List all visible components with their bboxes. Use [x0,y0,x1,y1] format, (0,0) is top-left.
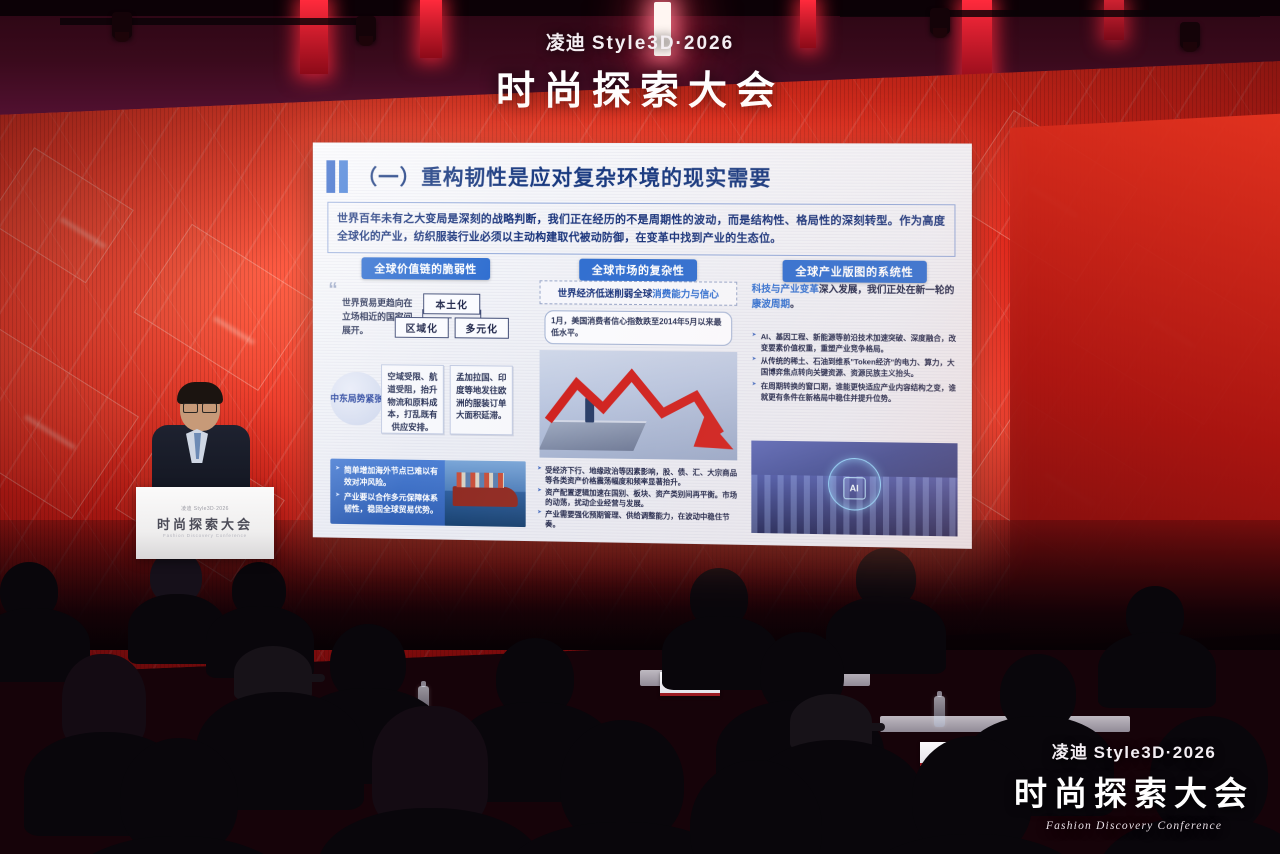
highlight-accent: 消费能力与信心 [652,289,719,301]
branding-top-line1: 凌迪Style3D·2026 [0,28,1280,55]
conference-photo-stage: 凌迪Style3D·2026 时尚探索大会 （一）重构韧性是应对复杂环境的现实需… [0,0,1280,854]
watermark-line1: 凌迪Style3D·2026 [1014,738,1254,763]
watermark-title: 时尚探索大会 [1014,767,1254,815]
audience-shoulders [62,836,294,854]
list-item: 在周期转换的窗口期，谁能更快适应产业内容结构之变，谁就更有条件在新格局中稳住并提… [752,381,958,405]
watermark-cn: 凌迪 [1052,743,1089,762]
red-down-arrow-icon [539,350,737,460]
ai-city-image: AI [752,441,958,537]
declining-arrow-chart-image [539,350,737,460]
speaker-podium-group: 凌迪 Style3D·2026 时尚探索大会 Fashion Discovery… [128,383,283,558]
column-market-complexity: 全球市场的复杂性 世界经济低迷削弱全球消费能力与信心 1月，美国消费者信心指数跌… [535,258,741,536]
list-item: 受经济下行、地缘政治等因素影响，股、债、汇、大宗商品等各类资产价格震荡幅度和频率… [537,465,739,489]
slide-three-columns: 全球价值链的脆弱性 “ 世界贸易更趋向在立场相近的国家间展开。 本土化 区域化 … [324,257,959,541]
note-logistics-cost: 空域受限、航道受阻，抬升物流和原料成本，打乱既有供应安排。 [381,364,444,434]
tag-connector-left [422,309,451,318]
speaker-glasses-icon [183,403,217,411]
highlight-plain: 世界经济低迷削弱全球 [558,288,653,300]
highlight-accent: 科技与产业变革 [752,284,819,296]
branding-top-cn: 凌迪 [546,33,586,54]
list-item: 从传统的稀土、石油到维系"Token经济"的电力、算力，大国博弈焦点转向关键资源… [752,357,958,381]
audience-shoulders [826,596,946,674]
slide-header: （一）重构韧性是应对复杂环境的现实需要 [326,156,957,198]
list-item: 产业需要强化预期管理、供给调整能力，在波动中稳住节奏。 [537,509,739,533]
podium-line1: 凌迪 Style3D·2026 [136,505,274,512]
projection-screen: （一）重构韧性是应对复杂环境的现实需要 世界百年未有之大变局是深刻的战略判断，我… [313,142,972,548]
column-industrial-map: 全球产业版图的系统性 科技与产业变革深入发展，我们正处在新一轮的康波周期。 AI… [750,260,960,541]
list-item: AI、基因工程、新能源等前沿技术加速突破、深度融合，改变要素价值权重，重塑产业竞… [752,332,958,356]
column-2-header: 全球市场的复杂性 [579,259,698,282]
column-3-bullets: AI、基因工程、新能源等前沿技术加速突破、深度融合，改变要素价值权重，重塑产业竞… [752,332,958,408]
column-3-header: 全球产业版图的系统性 [782,260,926,283]
audience-shoulders [318,808,542,854]
watermark-en: Style3D·2026 [1094,743,1217,762]
name-card-strip [660,693,720,696]
list-item: 产业要以合作多元保障体系韧性，稳固全球贸易优势。 [335,491,442,516]
highlight-tail: 。 [790,299,800,310]
podium-line2: 时尚探索大会 [136,514,274,533]
column-value-chain: 全球价值链的脆弱性 “ 世界贸易更趋向在立场相近的国家间展开。 本土化 区域化 … [324,257,527,533]
water-bottle [934,696,945,727]
column-2-note: 1月，美国消费者信心指数跌至2014年5月以来最低水平。 [544,310,732,346]
branding-top-title: 时尚探索大会 [0,60,1280,116]
column-1-header: 全球价值链的脆弱性 [362,257,490,280]
column-1-bullets: 简单增加海外节点已难以有效对冲风险。 产业要以合作多元保障体系韧性，稳固全球贸易… [330,459,447,526]
presentation-slide: （一）重构韧性是应对复杂环境的现实需要 世界百年未有之大变局是深刻的战略判断，我… [313,142,972,548]
speaker-hair [177,382,223,404]
tag-diversification: 多元化 [455,317,509,338]
quote-mark-icon: “ [328,281,337,300]
ship-hull [452,486,517,507]
slide-title: （一）重构韧性是应对复杂环境的现实需要 [357,161,772,192]
note-order-delay: 孟加拉国、印度等地发往欧洲的服装订单大面积延滞。 [450,365,513,435]
middle-east-label: 中东局势紧张 [330,392,383,405]
ship-containers [456,472,503,488]
highlight-accent-2: 康波周期 [752,299,790,310]
list-item: 资产配置逻辑加速在国别、板块、资产类别间再平衡。市场的动荡，扰动企业经营与发展。 [537,487,739,511]
container-ship-image [444,460,525,527]
truss-beam-left [60,18,370,25]
column-3-highlight: 科技与产业变革深入发展，我们正处在新一轮的康波周期。 [752,282,958,314]
branding-top-en: Style3D·2026 [592,33,734,54]
slide-lead-paragraph: 世界百年未有之大变局是深刻的战略判断，我们正在经历的不是周期性的波动，而是结构性… [327,202,955,257]
middle-east-circle: 中东局势紧张 [330,372,383,426]
slide-accent-bars-icon [326,160,347,193]
column-2-highlight: 世界经济低迷削弱全球消费能力与信心 [539,280,737,306]
column-2-bullets: 受经济下行、地缘政治等因素影响，股、债、汇、大宗商品等各类资产价格震荡幅度和频率… [537,465,739,534]
ai-chip-icon: AI [843,477,865,500]
tag-regionalization: 区域化 [395,317,449,338]
watermark-subtitle: Fashion Discovery Conference [1014,820,1254,832]
podium-panel: 凌迪 Style3D·2026 时尚探索大会 Fashion Discovery… [136,487,274,559]
list-item: 简单增加海外节点已难以有效对冲风险。 [335,465,442,490]
truss-beam-right [840,10,1260,17]
highlight-plain: 深入发展，我们正处在新一轮的 [819,284,954,296]
audience-shoulders [1098,632,1216,708]
stage-branding-top: 凌迪Style3D·2026 时尚探索大会 [0,28,1280,116]
podium-line3: Fashion Discovery Conference [136,533,274,538]
tag-connector-right [479,310,481,319]
conference-watermark: 凌迪Style3D·2026 时尚探索大会 Fashion Discovery … [1014,738,1254,832]
